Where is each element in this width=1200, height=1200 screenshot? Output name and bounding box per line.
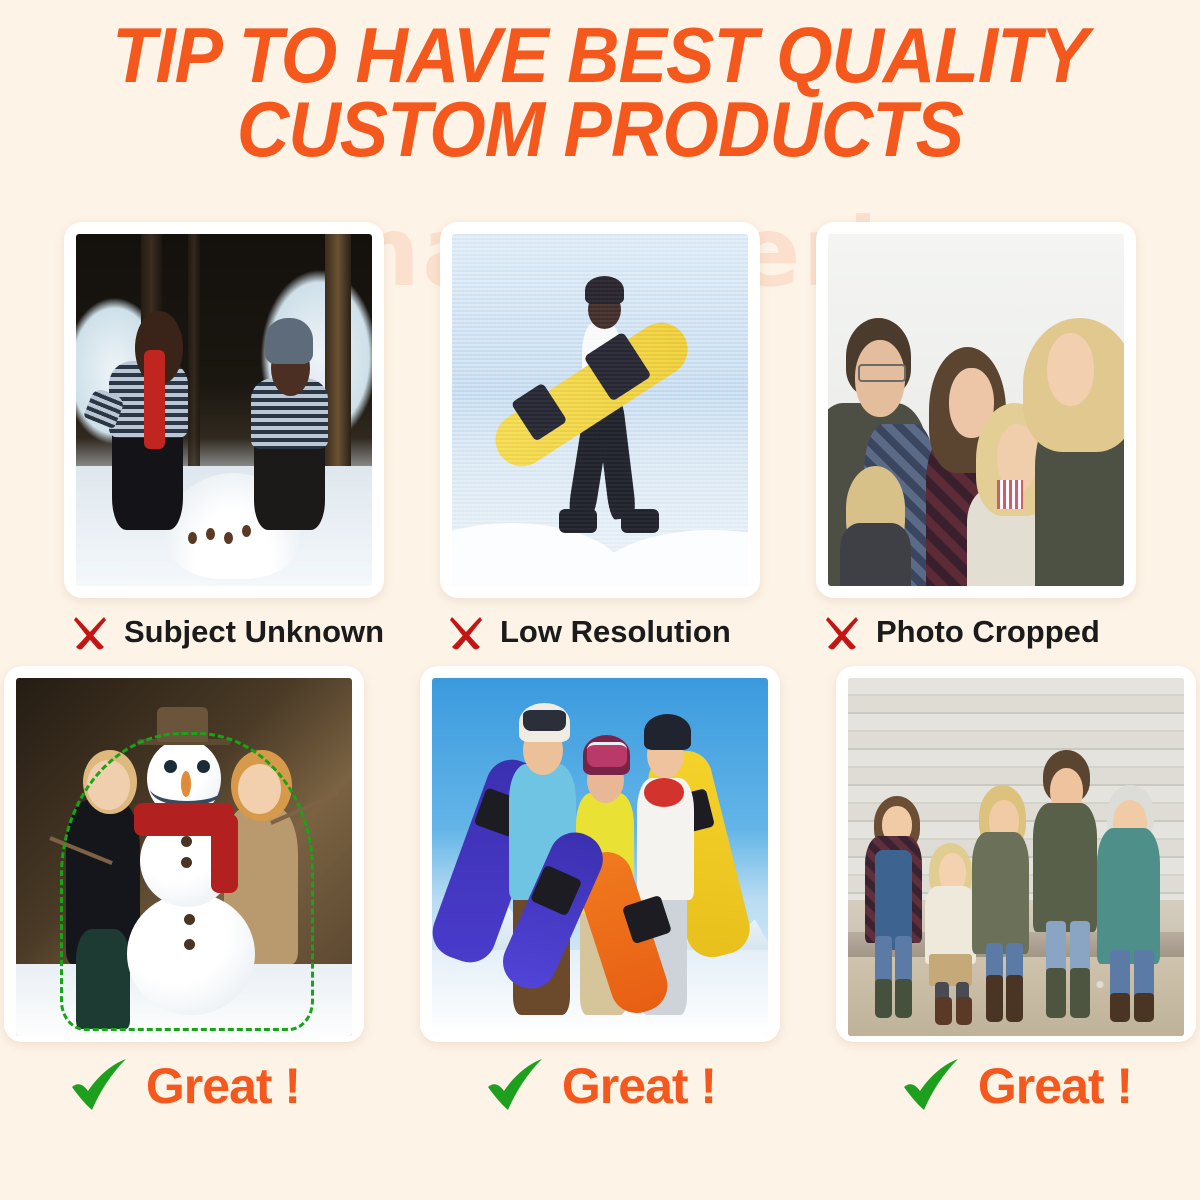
cross-icon	[70, 612, 110, 652]
caption-text: Low Resolution	[500, 614, 731, 650]
example-subject-unknown: Subject Unknown	[64, 222, 384, 652]
example-great-snowman: Great !	[4, 666, 364, 1130]
check-icon	[900, 1057, 962, 1115]
photo-cropped	[828, 234, 1124, 586]
caption-photo-cropped: Photo Cropped	[816, 612, 1136, 652]
cross-icon	[446, 612, 486, 652]
photo-great-snowman	[16, 678, 352, 1036]
caption-text: Great !	[562, 1057, 716, 1115]
caption-great-1: Great !	[4, 1042, 364, 1130]
photo-card	[836, 666, 1196, 1042]
check-icon	[484, 1057, 546, 1115]
photo-card	[4, 666, 364, 1042]
title-line-2: CUSTOM PRODUCTS	[42, 92, 1158, 166]
photo-card	[420, 666, 780, 1042]
cross-icon	[822, 612, 862, 652]
photo-card	[64, 222, 384, 598]
photo-subject-unknown	[76, 234, 372, 586]
caption-great-3: Great !	[836, 1042, 1196, 1130]
caption-text: Subject Unknown	[124, 614, 384, 650]
example-photo-cropped: Photo Cropped	[816, 222, 1136, 652]
caption-subject-unknown: Subject Unknown	[64, 612, 384, 652]
photo-card	[440, 222, 760, 598]
caption-low-resolution: Low Resolution	[440, 612, 760, 652]
caption-great-2: Great !	[420, 1042, 780, 1130]
photo-low-resolution	[452, 234, 748, 586]
caption-text: Great !	[146, 1057, 300, 1115]
page-title: TIP TO HAVE BEST QUALITY CUSTOM PRODUCTS	[0, 18, 1200, 166]
title-line-1: TIP TO HAVE BEST QUALITY	[42, 18, 1158, 92]
caption-text: Great !	[978, 1057, 1132, 1115]
check-icon	[68, 1057, 130, 1115]
examples-grid: Subject Unknown	[0, 222, 1200, 1130]
photo-great-snowboarders	[432, 678, 768, 1036]
bad-examples-row: Subject Unknown	[0, 222, 1200, 652]
caption-text: Photo Cropped	[876, 614, 1100, 650]
good-examples-row: Great !	[0, 666, 1200, 1130]
photo-great-family	[848, 678, 1184, 1036]
example-great-family: Great !	[836, 666, 1196, 1130]
example-great-snowboarders: Great !	[420, 666, 780, 1130]
photo-card	[816, 222, 1136, 598]
example-low-resolution: Low Resolution	[440, 222, 760, 652]
